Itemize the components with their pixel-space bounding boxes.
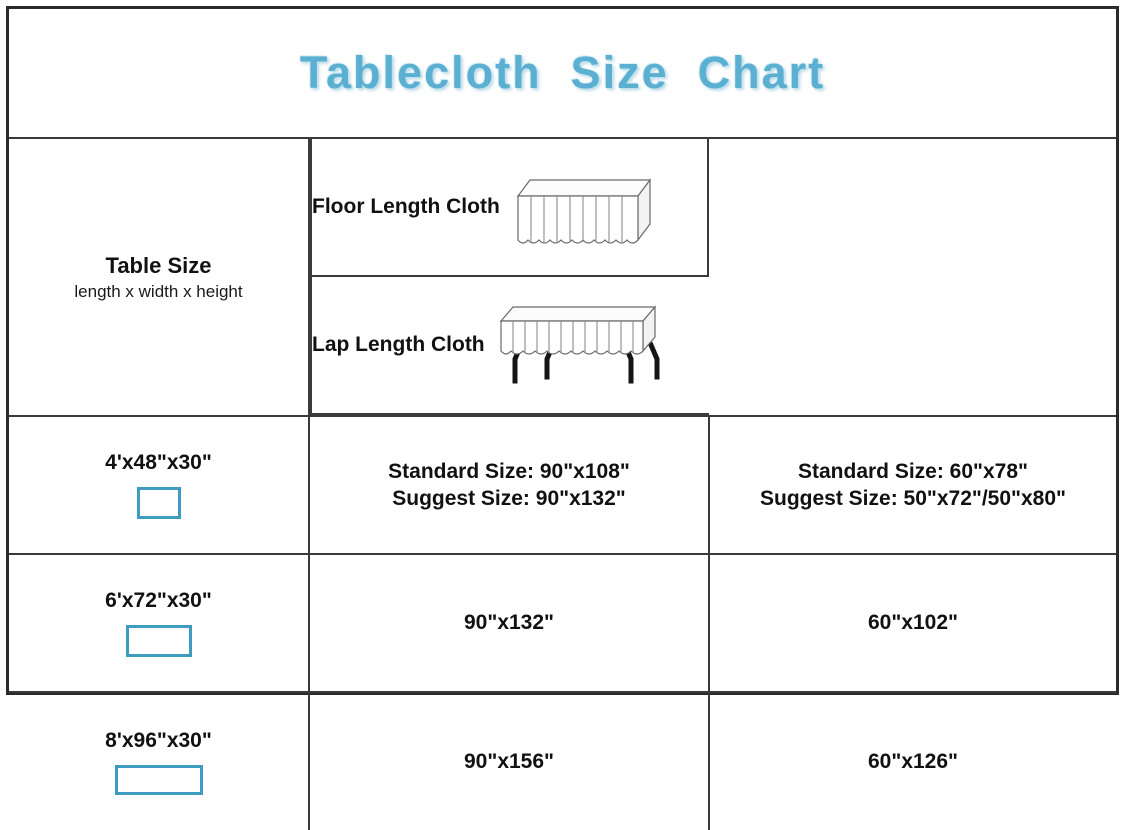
table-size-value: 6'x72"x30" [9, 589, 308, 613]
cell-floor-length-2: 90"x132" [309, 554, 709, 692]
table-row: 6'x72"x30" 90"x132" 60"x102" [9, 554, 1116, 692]
table-size-value: 8'x96"x30" [9, 729, 308, 753]
cell-lap-length-2: 60"x102" [709, 554, 1116, 692]
title-band: Tablecloth Size Chart [9, 9, 1116, 139]
table-header-row: Table Size length x width x height Floor… [9, 139, 1116, 416]
cell-lap-length-1: Standard Size: 60"x78" Suggest Size: 50"… [709, 416, 1116, 554]
cell-table-size-2: 6'x72"x30" [9, 554, 309, 692]
lap-length-tablecloth-icon [489, 293, 671, 398]
header-floor-length-label: Floor Length Cloth [312, 195, 500, 219]
table-size-swatch [115, 765, 203, 795]
lap-standard-size: Standard Size: 60"x78" [710, 458, 1116, 485]
table-row: 4'x48"x30" Standard Size: 90"x108" Sugge… [9, 416, 1116, 554]
floor-length-tablecloth-icon [504, 162, 664, 253]
cell-floor-length-3: 90"x156" [309, 692, 709, 830]
lap-size-value: 60"x102" [868, 611, 958, 634]
lap-suggest-size: Suggest Size: 50"x72"/50"x80" [710, 485, 1116, 512]
header-table-size-label: Table Size [9, 252, 308, 280]
header-table-size: Table Size length x width x height [9, 139, 309, 416]
header-lap-length: Lap Length Cloth [310, 277, 709, 415]
page-title: Tablecloth Size Chart [300, 47, 825, 99]
floor-size-value: 90"x132" [464, 611, 554, 634]
floor-size-value: 90"x156" [464, 750, 554, 773]
table-size-swatch [126, 625, 192, 657]
header-lap-length-label: Lap Length Cloth [312, 333, 485, 357]
cell-table-size-1: 4'x48"x30" [9, 416, 309, 554]
cell-lap-length-3: 60"x126" [709, 692, 1116, 830]
header-floor-length: Floor Length Cloth [310, 139, 709, 277]
floor-standard-size: Standard Size: 90"x108" [310, 458, 708, 485]
table-size-swatch [137, 487, 181, 519]
tablecloth-size-chart: Tablecloth Size Chart Table Size length … [6, 6, 1119, 695]
size-table: Table Size length x width x height Floor… [9, 139, 1116, 830]
table-row: 8'x96"x30" 90"x156" 60"x126" [9, 692, 1116, 830]
table-size-value: 4'x48"x30" [9, 451, 308, 475]
cell-table-size-3: 8'x96"x30" [9, 692, 309, 830]
cell-floor-length-1: Standard Size: 90"x108" Suggest Size: 90… [309, 416, 709, 554]
header-table-size-sublabel: length x width x height [9, 281, 308, 302]
lap-size-value: 60"x126" [868, 750, 958, 773]
floor-suggest-size: Suggest Size: 90"x132" [310, 485, 708, 512]
